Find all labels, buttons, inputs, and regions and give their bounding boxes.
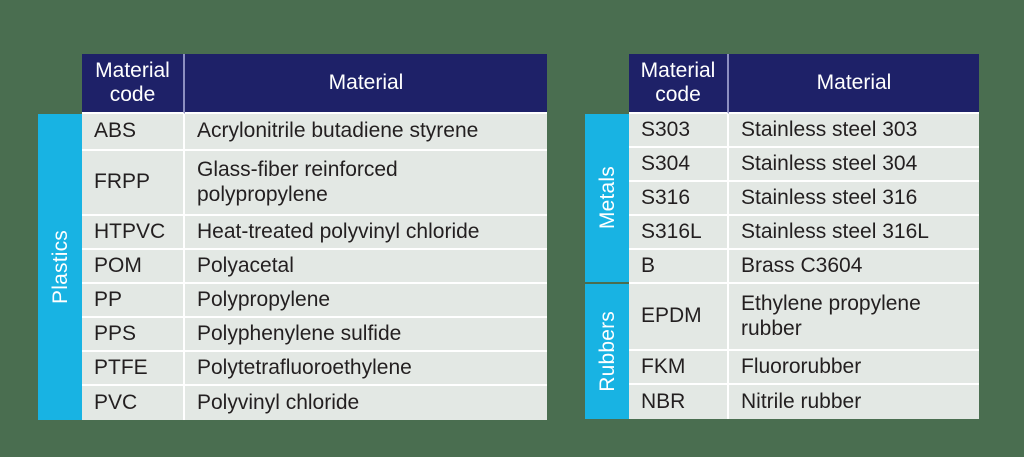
cell-material-name: Polyphenylene sulfide bbox=[185, 318, 547, 352]
table-row: PTFE Polytetrafluoroethylene bbox=[82, 352, 547, 386]
metals-rubbers-category-rail: Metals Rubbers bbox=[585, 54, 629, 419]
category-band-metals: Metals bbox=[585, 114, 629, 282]
header-material-code-line2: code bbox=[641, 83, 716, 107]
cell-material-name: Fluororubber bbox=[729, 351, 979, 385]
cell-material-name: Ethylene propylene rubber bbox=[729, 284, 979, 351]
category-label-rubbers: Rubbers bbox=[597, 311, 618, 392]
plastics-category-rail: Plastics bbox=[38, 54, 82, 420]
header-material-code: Material code bbox=[82, 54, 185, 114]
table-row: HTPVC Heat-treated polyvinyl chloride bbox=[82, 216, 547, 250]
cell-material-code: EPDM bbox=[629, 284, 729, 351]
table-row: S304 Stainless steel 304 bbox=[629, 148, 979, 182]
cell-material-code: PTFE bbox=[82, 352, 185, 386]
cell-material-name: Stainless steel 316L bbox=[729, 216, 979, 250]
category-label-plastics: Plastics bbox=[50, 230, 71, 304]
cell-material-name-line2: rubber bbox=[741, 317, 921, 341]
category-label-metals: Metals bbox=[597, 166, 618, 229]
cell-material-code: FRPP bbox=[82, 151, 185, 216]
cell-material-name: Nitrile rubber bbox=[729, 385, 979, 419]
cell-material-name: Stainless steel 316 bbox=[729, 182, 979, 216]
cell-material-name-line1: Ethylene propylene bbox=[741, 292, 921, 316]
table-row: PP Polypropylene bbox=[82, 284, 547, 318]
cell-material-name-line1: Glass-fiber reinforced bbox=[197, 158, 398, 182]
metals-rubbers-table: Metals Rubbers Material code Material S3… bbox=[585, 54, 979, 419]
cell-material-code: PP bbox=[82, 284, 185, 318]
cell-material-name: Polyvinyl chloride bbox=[185, 386, 547, 420]
header-material-code-line1: Material bbox=[95, 59, 170, 83]
table-row: EPDM Ethylene propylene rubber bbox=[629, 284, 979, 351]
material-code-tables: Plastics Material code Material ABS Acry… bbox=[0, 0, 1024, 457]
cell-material-name: Acrylonitrile butadiene styrene bbox=[185, 114, 547, 151]
header-material-code: Material code bbox=[629, 54, 729, 114]
cell-material-name: Brass C3604 bbox=[729, 250, 979, 284]
table-row: PVC Polyvinyl chloride bbox=[82, 386, 547, 420]
cell-material-name: Stainless steel 304 bbox=[729, 148, 979, 182]
cell-material-name-line2: polypropylene bbox=[197, 183, 398, 207]
table-row: ABS Acrylonitrile butadiene styrene bbox=[82, 114, 547, 151]
plastics-grid: Material code Material ABS Acrylonitrile… bbox=[82, 54, 547, 420]
cell-material-code: POM bbox=[82, 250, 185, 284]
cell-material-code: S316L bbox=[629, 216, 729, 250]
header-material: Material bbox=[729, 54, 979, 114]
category-rail-spacer bbox=[585, 54, 629, 114]
metals-rubbers-grid: Material code Material S303 Stainless st… bbox=[629, 54, 979, 419]
table-row: FRPP Glass-fiber reinforced polypropylen… bbox=[82, 151, 547, 216]
cell-material-name: Polyacetal bbox=[185, 250, 547, 284]
cell-material-name: Polytetrafluoroethylene bbox=[185, 352, 547, 386]
cell-material-code: ABS bbox=[82, 114, 185, 151]
cell-material-code: NBR bbox=[629, 385, 729, 419]
table-row: S303 Stainless steel 303 bbox=[629, 114, 979, 148]
table-row: FKM Fluororubber bbox=[629, 351, 979, 385]
cell-material-name: Heat-treated polyvinyl chloride bbox=[185, 216, 547, 250]
cell-material-code: S303 bbox=[629, 114, 729, 148]
table-row: PPS Polyphenylene sulfide bbox=[82, 318, 547, 352]
cell-material-code: S304 bbox=[629, 148, 729, 182]
header-material: Material bbox=[185, 54, 547, 114]
cell-material-code: S316 bbox=[629, 182, 729, 216]
table-row: POM Polyacetal bbox=[82, 250, 547, 284]
table-row: S316 Stainless steel 316 bbox=[629, 182, 979, 216]
cell-material-name: Polypropylene bbox=[185, 284, 547, 318]
cell-material-code: PVC bbox=[82, 386, 185, 420]
table-row: NBR Nitrile rubber bbox=[629, 385, 979, 419]
header-material-code-line1: Material bbox=[641, 59, 716, 83]
header-material-code-line2: code bbox=[95, 83, 170, 107]
cell-material-code: FKM bbox=[629, 351, 729, 385]
plastics-table: Plastics Material code Material ABS Acry… bbox=[38, 54, 547, 420]
cell-material-name: Stainless steel 303 bbox=[729, 114, 979, 148]
cell-material-code: HTPVC bbox=[82, 216, 185, 250]
category-rail-spacer bbox=[38, 54, 82, 114]
plastics-header-row: Material code Material bbox=[82, 54, 547, 114]
metals-header-row: Material code Material bbox=[629, 54, 979, 114]
table-row: S316L Stainless steel 316L bbox=[629, 216, 979, 250]
category-band-plastics: Plastics bbox=[38, 114, 82, 420]
category-band-rubbers: Rubbers bbox=[585, 284, 629, 419]
cell-material-code: B bbox=[629, 250, 729, 284]
table-row: B Brass C3604 bbox=[629, 250, 979, 284]
cell-material-name: Glass-fiber reinforced polypropylene bbox=[185, 151, 547, 216]
cell-material-code: PPS bbox=[82, 318, 185, 352]
